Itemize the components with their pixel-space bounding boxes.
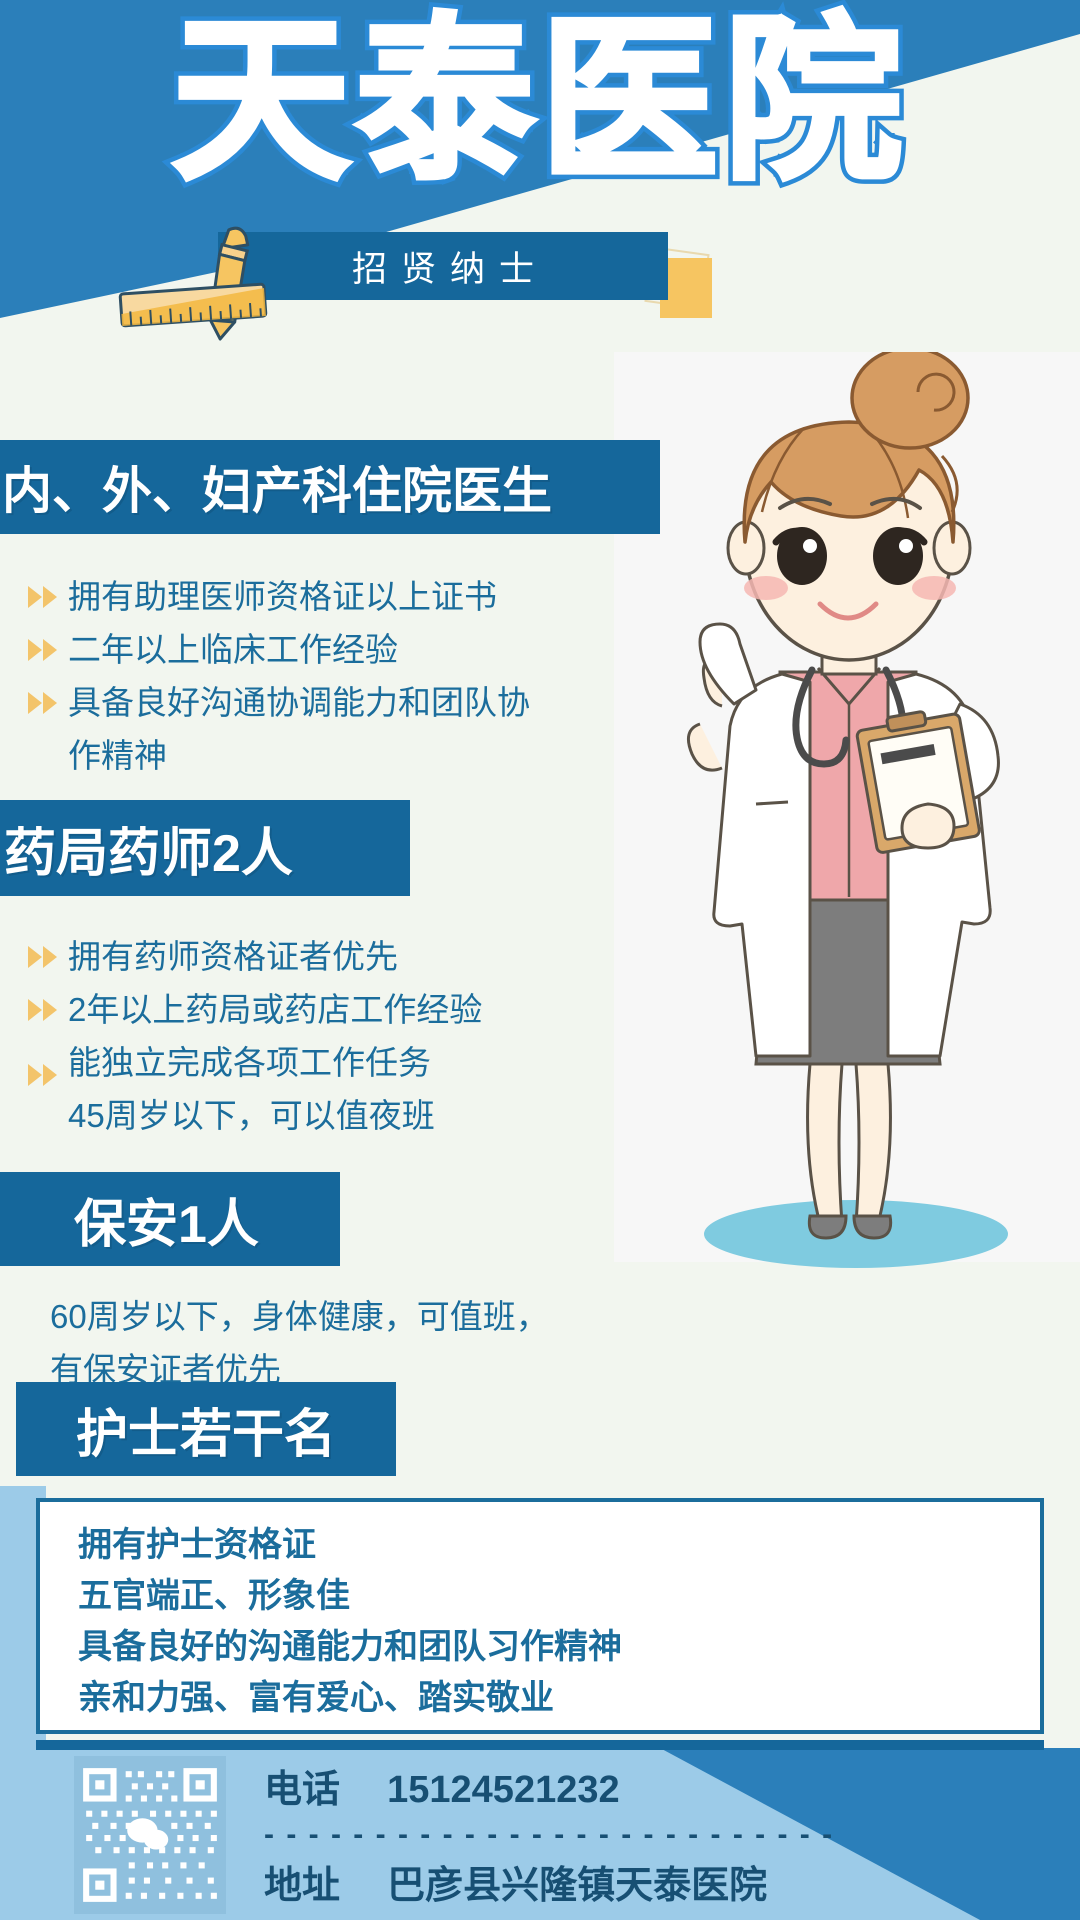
requirement-text: 拥有护士资格证 (78, 1520, 1040, 1571)
double-chevron-right-icon (22, 570, 68, 623)
requirement-text-wrap: 作精神 (22, 729, 530, 782)
requirement-text: 亲和力强、富有爱心、踏实敬业 (78, 1673, 1040, 1724)
requirement-text: 拥有助理医师资格证以上证书 (68, 570, 497, 623)
double-chevron-right-icon (22, 983, 68, 1036)
double-chevron-right-icon (22, 1036, 68, 1089)
ruler-icon (118, 281, 268, 329)
double-chevron-right-icon (22, 930, 68, 983)
job-title-2: 保安1人 (74, 1182, 259, 1257)
job-header-3: 护士若干名 (16, 1382, 396, 1476)
address-value: 巴彦县兴隆镇天泰医院 (387, 1865, 767, 1907)
double-chevron-right-icon (22, 676, 68, 729)
double-chevron-right-icon (22, 623, 68, 676)
job-requirements-1: 拥有药师资格证者优先 2年以上药局或药店工作经验 能独立完成各项工作任务 x 4… (22, 930, 482, 1142)
address-label: 地址 (264, 1865, 340, 1907)
footer-divider-bar (36, 1740, 1044, 1750)
phone-number[interactable]: 15124521232 (387, 1769, 619, 1811)
requirement-text: 具备良好沟通协调能力和团队协 (68, 676, 530, 729)
requirement-text: 具备良好的沟通能力和团队习作精神 (78, 1622, 1040, 1673)
requirement-text: 能独立完成各项工作任务 (22, 1036, 482, 1089)
requirement-item: 2年以上药局或药店工作经验 (22, 983, 482, 1036)
requirement-text: 60周岁以下，身体健康，可值班， (26, 1290, 549, 1343)
requirement-text: 45周岁以下，可以值夜班 (22, 1089, 482, 1142)
qr-code-icon[interactable] (74, 1756, 226, 1914)
job-header-2: 保安1人 (0, 1172, 340, 1266)
job-title-3: 护士若干名 (76, 1392, 336, 1467)
requirement-text: 拥有药师资格证者优先 (68, 930, 398, 983)
job-requirements-0: 拥有助理医师资格证以上证书 二年以上临床工作经验 具备良好沟通协调能力和团队协 … (22, 570, 530, 782)
address-line: 地址 巴彦县兴隆镇天泰医院 (264, 1858, 834, 1914)
phone-line: 电话 15124521232 (264, 1762, 834, 1818)
job-header-0: 内、外、妇产科住院医生 (0, 440, 660, 534)
requirement-item: 具备良好沟通协调能力和团队协 (22, 676, 530, 729)
job-title-0: 内、外、妇产科住院医生 (2, 451, 552, 523)
requirement-text: 二年以上临床工作经验 (68, 623, 398, 676)
contact-info: 电话 15124521232 - - - - - - - - - - - - -… (264, 1762, 834, 1914)
recruit-banner: 招贤纳士 (218, 232, 668, 300)
female-doctor-illustration (604, 352, 1080, 1312)
contact-divider: - - - - - - - - - - - - - - - - - - - - … (264, 1818, 834, 1852)
requirement-item: 拥有药师资格证者优先 (22, 930, 482, 983)
requirement-text: 五官端正、形象佳 (78, 1571, 1040, 1622)
job-header-1: 药局药师2人 (0, 800, 410, 896)
recruitment-poster: 天泰医院 天泰医院 天泰医院 招贤纳士 (0, 0, 1080, 1920)
requirement-text: 2年以上药局或药店工作经验 (68, 983, 482, 1036)
phone-label: 电话 (264, 1769, 340, 1811)
requirement-item: 拥有助理医师资格证以上证书 (22, 570, 530, 623)
recruit-banner-label: 招贤纳士 (338, 241, 548, 292)
job-requirements-2: 60周岁以下，身体健康，可值班， 有保安证者优先 (26, 1290, 549, 1396)
job-title-1: 药局药师2人 (4, 811, 293, 886)
nurse-requirements-box: 拥有护士资格证 五官端正、形象佳 具备良好的沟通能力和团队习作精神 亲和力强、富… (36, 1498, 1044, 1734)
requirement-item: 二年以上临床工作经验 (22, 623, 530, 676)
page-title: 天泰医院 (0, 12, 1080, 190)
